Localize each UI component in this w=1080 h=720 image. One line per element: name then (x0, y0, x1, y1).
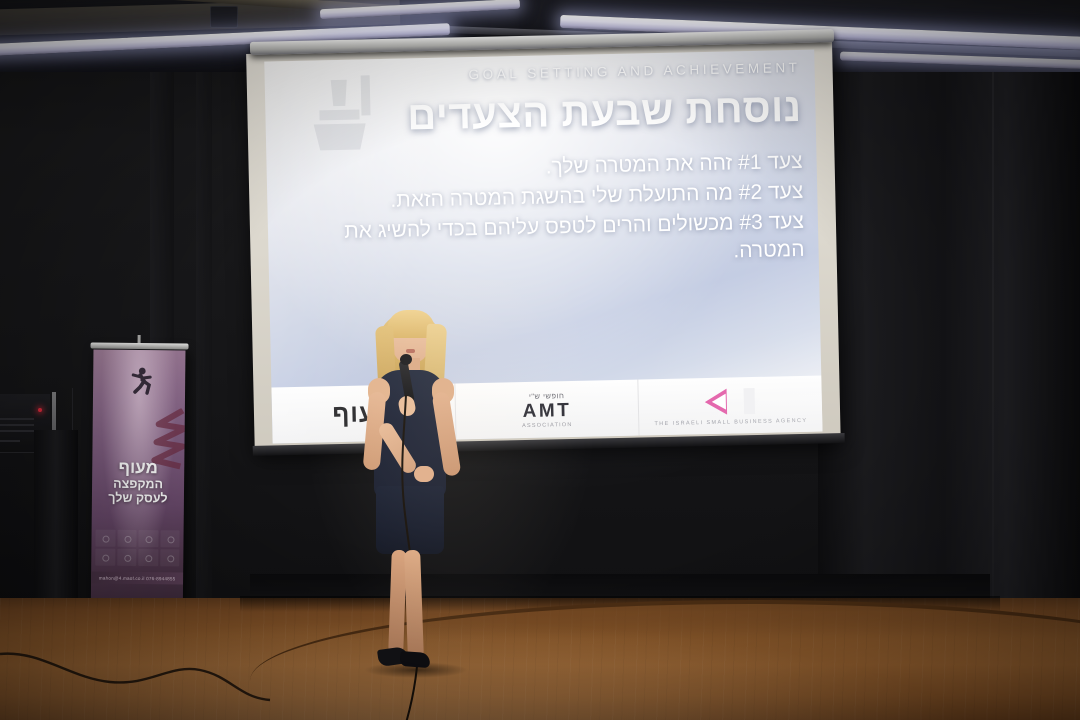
presentation-scene: GOAL SETTING AND ACHIEVEMENT נוסחת שבעת … (0, 0, 1080, 720)
presenter-mouth (406, 349, 415, 353)
presenter (340, 300, 480, 720)
banner-feature-icon (138, 549, 158, 566)
slide-steps-list: צעד #1 זהה את המטרה שלך. צעד #2 מה התועל… (278, 148, 804, 277)
banner-feature-icon (117, 530, 137, 547)
floor-cable (0, 648, 300, 708)
banner-feature-icon (117, 549, 137, 566)
banner-feature-icon (95, 530, 115, 547)
banner-line-2: המקפצה (92, 477, 184, 492)
logo-amt: חופשי ש"י AMT ASSOCIATION (455, 380, 640, 440)
banner-line-3: לעסק שלך (92, 491, 184, 506)
projection-screen: GOAL SETTING AND ACHIEVEMENT נוסחת שבעת … (246, 35, 851, 460)
banner-top-rail (91, 342, 189, 349)
wall-pillar-left-2 (196, 40, 212, 640)
ceiling-speaker (210, 6, 238, 28)
stage-curtain-right (818, 0, 1080, 640)
podium-icon (301, 68, 411, 156)
banner-feature-icon (95, 549, 115, 566)
rollup-banner: מעוף המקפצה לעסק שלך mahon@4.maof.co.il … (90, 348, 185, 637)
banner-headline-block: מעוף המקפצה לעסק שלך (92, 458, 184, 506)
slide-step-3: צעד #3 מכשולים והרים לטפס עליהם בכדי להש… (280, 208, 805, 275)
banner-feature-icon (138, 530, 158, 547)
banner-icon-grid (95, 530, 179, 567)
slide-eyebrow: GOAL SETTING AND ACHIEVEMENT (468, 60, 800, 82)
banner-feature-icon (160, 530, 180, 547)
banner-artwork: מעוף המקפצה לעסק שלך mahon@4.maof.co.il … (91, 350, 186, 609)
banner-contact-line: mahon@4.maof.co.il 076-8944855 (91, 572, 183, 585)
power-led-icon (38, 408, 42, 412)
banner-headline: מעוף (92, 458, 184, 478)
running-man-icon (123, 366, 157, 400)
banner-feature-icon (160, 549, 180, 566)
chevron-logo-icon (704, 385, 757, 416)
slide-title: נוסחת שבעת הצעדים (407, 88, 802, 138)
presenter-shoe-right (400, 651, 431, 668)
logo-small-business-agency: THE ISRAELI SMALL BUSINESS AGENCY (639, 376, 823, 436)
